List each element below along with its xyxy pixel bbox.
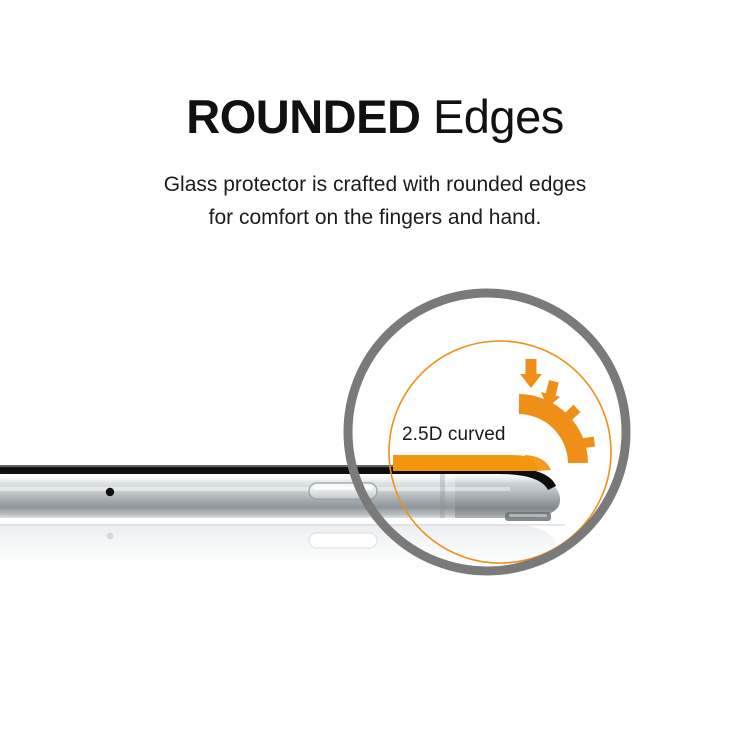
device-illustration: 2.5D curved xyxy=(0,0,750,750)
phone-port-highlight xyxy=(509,514,547,517)
callout-label: 2.5D curved xyxy=(402,424,506,446)
glass-protector-overlay xyxy=(393,455,551,471)
reflection-side-button xyxy=(309,533,377,548)
pressure-arrow-1 xyxy=(520,359,542,388)
phone-bottom-port xyxy=(505,512,551,521)
glass-band xyxy=(393,455,537,471)
product-infographic: ROUNDED Edges Glass protector is crafted… xyxy=(0,0,750,750)
curve-indicator-group xyxy=(519,359,596,463)
left-edge-fade xyxy=(0,460,110,575)
phone-antenna-line xyxy=(440,474,445,518)
